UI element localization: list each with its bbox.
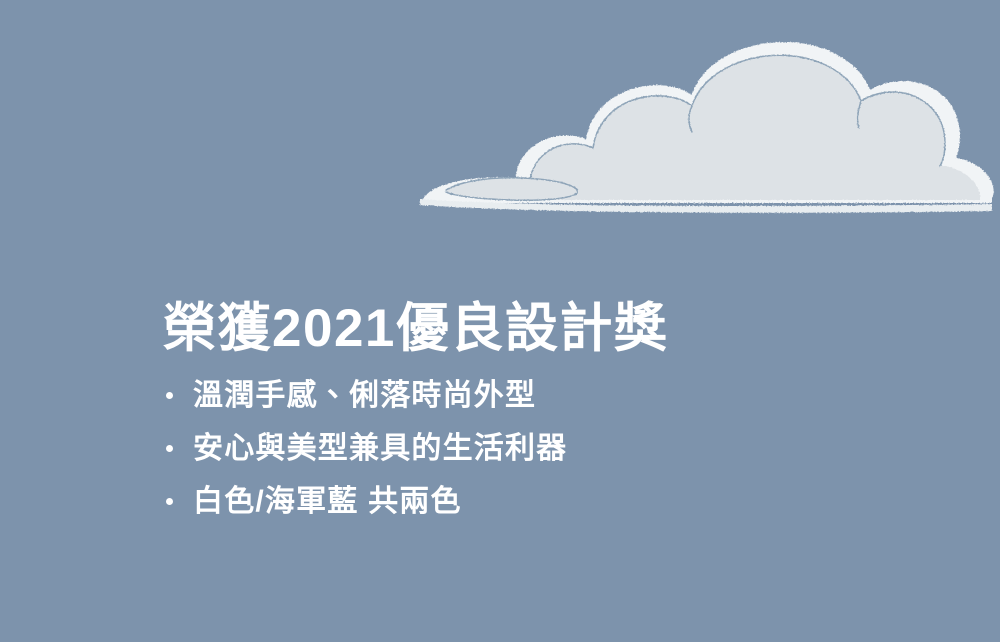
list-item: 安心與美型兼具的生活利器	[163, 422, 863, 475]
list-item-label: 安心與美型兼具的生活利器	[193, 434, 567, 464]
bullet-dot-icon	[166, 445, 173, 452]
list-item: 白色/海軍藍 共兩色	[163, 475, 863, 528]
text-content-block: 榮獲2021優良設計獎 溫潤手感、俐落時尚外型 安心與美型兼具的生活利器 白色/…	[163, 296, 863, 528]
feature-bullet-list: 溫潤手感、俐落時尚外型 安心與美型兼具的生活利器 白色/海軍藍 共兩色	[163, 369, 863, 528]
slide-canvas: 榮獲2021優良設計獎 溫潤手感、俐落時尚外型 安心與美型兼具的生活利器 白色/…	[0, 0, 1000, 642]
cloud-outer-rim	[420, 42, 994, 203]
cloud-tail	[446, 178, 578, 201]
list-item-label: 白色/海軍藍 共兩色	[193, 487, 462, 517]
cloud-contour-line	[530, 55, 945, 184]
bullet-dot-icon	[166, 392, 173, 399]
bullet-dot-icon	[166, 498, 173, 505]
list-item: 溫潤手感、俐落時尚外型	[163, 369, 863, 422]
cloud-base-edge	[420, 199, 992, 213]
cloud-illustration	[400, 18, 1000, 218]
list-item-label: 溫潤手感、俐落時尚外型	[193, 381, 536, 411]
page-title: 榮獲2021優良設計獎	[163, 296, 863, 362]
cloud-inner-fill	[530, 54, 980, 200]
